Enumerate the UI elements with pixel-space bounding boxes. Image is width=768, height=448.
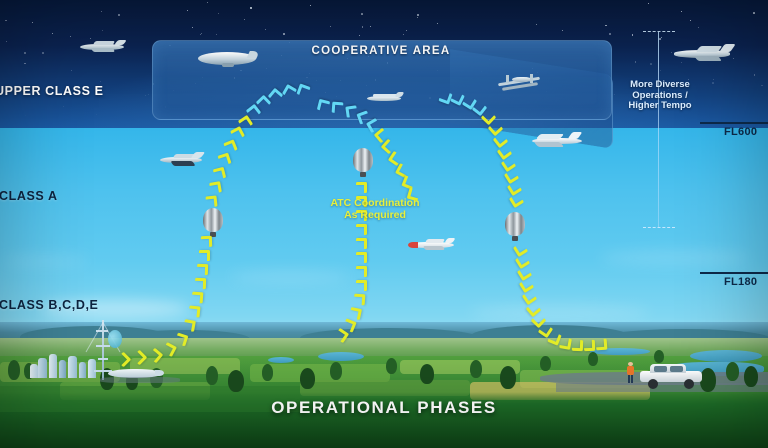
cloud-wisp (600, 250, 750, 266)
atc-coordination-note: ATC Coordination As Required (320, 197, 430, 221)
airspace-label-class-a: CLASS A (0, 189, 58, 203)
apron (100, 377, 180, 383)
cloud-wisp (470, 305, 650, 321)
higher-tempo-note: More Diverse Operations / Higher Tempo (615, 80, 705, 112)
flight-path-chevron (356, 224, 367, 235)
pond (268, 357, 294, 363)
airliner-low-altitude (408, 238, 456, 252)
industrial-site (30, 342, 120, 378)
flight-level-marker-fl180: FL180 (700, 272, 768, 288)
balloon-center (353, 148, 373, 178)
cloud-wisp (0, 255, 90, 267)
balloon-left (203, 208, 223, 238)
balloon-right (505, 212, 525, 242)
flight-path-chevron (584, 340, 595, 351)
cloud-wisp (230, 270, 350, 284)
flight-path-chevron (356, 266, 367, 277)
fl180-label: FL180 (700, 274, 768, 288)
flight-path-chevron (195, 278, 206, 289)
page-title: OPERATIONAL PHASES (0, 398, 768, 418)
flight-path-chevron (356, 182, 367, 193)
flight-path-chevron (332, 102, 344, 114)
flight-path-chevron (356, 252, 367, 263)
tempo-measure-cap-top (643, 31, 675, 32)
business-jet-upper-left (80, 40, 126, 54)
pond (690, 350, 762, 362)
fl600-label: FL600 (700, 124, 768, 138)
tempo-measure-cap-bottom (643, 227, 675, 228)
glider-cooperative-area (363, 92, 403, 104)
flight-path-chevron (192, 292, 204, 304)
airspace-operations-diagram: COOPERATIVE AREA (0, 0, 768, 448)
flight-level-marker-fl600: FL600 (700, 122, 768, 138)
radar-dish (108, 330, 122, 348)
pond (318, 352, 364, 361)
flight-path-chevron (197, 264, 208, 275)
atc-note-line-2: As Required (320, 209, 430, 221)
supersonic-jet-mid-sky (530, 132, 588, 150)
uav-cooperative-area (496, 72, 542, 92)
flight-path-chevron (354, 294, 366, 306)
flight-path-chevron (199, 250, 210, 261)
flight-path-chevron (356, 238, 367, 249)
flight-path-chevron (188, 305, 200, 317)
airspace-label-class-bcde: CLASS B,C,D,E (0, 298, 98, 312)
flight-path-chevron (559, 337, 572, 350)
ground-operator (627, 362, 634, 382)
flight-path-chevron (205, 195, 217, 207)
flight-path-chevron (345, 105, 357, 117)
business-jet-class-a (160, 152, 206, 168)
flight-path-chevron (356, 280, 367, 291)
tempo-note-line-1: More Diverse (615, 80, 705, 91)
flight-path-chevron (349, 307, 362, 320)
airship-cooperative-area (198, 50, 258, 68)
support-vehicle (640, 363, 702, 385)
tempo-note-line-3: Higher Tempo (615, 101, 705, 112)
flight-path-chevron (596, 339, 608, 351)
tempo-measure-line (658, 32, 659, 227)
flight-path-chevron (572, 340, 583, 351)
flight-path-chevron (201, 236, 212, 247)
space-plane-upper-right (674, 44, 736, 64)
flight-path-chevron (209, 181, 222, 194)
flight-path-chevron (183, 319, 196, 332)
atc-note-line-1: ATC Coordination (320, 197, 430, 209)
airspace-label-upper-class-e: UPPER CLASS E (0, 84, 104, 98)
